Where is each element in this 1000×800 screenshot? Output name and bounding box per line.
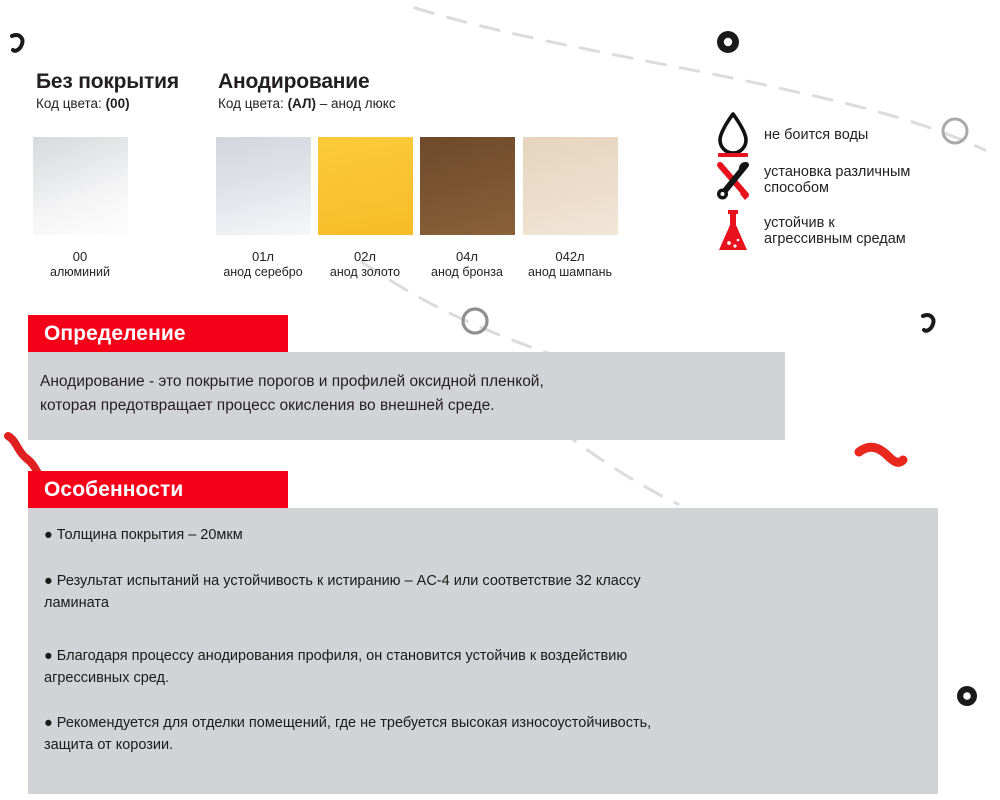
section-header-characteristics: Особенности (28, 471, 288, 508)
swatch-name-042l: анод шампань (505, 265, 635, 279)
dashed-path-lower (560, 430, 678, 504)
characteristic-bullet-2: ● Результат испытаний на устойчивость к … (44, 570, 934, 615)
column-title-anodizing: Анодирование (218, 70, 369, 94)
column-subtitle-uncoated-code: (00) (106, 96, 130, 111)
infographic-page: Без покрытия Код цвета: (00) Анодировани… (0, 0, 1000, 800)
characteristic-bullet-3: ● Благодаря процессу анодирования профил… (44, 645, 934, 690)
feature-water-label: не боится воды (764, 127, 868, 143)
red-squiggle-right (859, 447, 903, 462)
swatch-00 (33, 137, 128, 235)
column-title-uncoated: Без покрытия (36, 70, 179, 94)
comma-hook-top-left (12, 35, 22, 51)
swatch-042l (523, 137, 618, 235)
feature-install-label: установка различным способом (764, 164, 910, 196)
swatch-code-00: 00 (15, 249, 145, 264)
ring-outline-right (943, 119, 967, 143)
swatch-code-042l: 042л (505, 249, 635, 264)
water-drop-icon (712, 112, 754, 158)
characteristic-bullet-1: ● Толщина покрытия – 20мкм (44, 524, 934, 546)
swatch-02l (318, 137, 413, 235)
section-header-definition: Определение (28, 315, 288, 352)
donut-top (717, 31, 739, 53)
donut-bottom-right (957, 686, 977, 706)
swatch-01l (216, 137, 311, 235)
column-subtitle-anodizing-prefix: Код цвета: (218, 96, 288, 111)
swatch-name-00: алюминий (15, 265, 145, 279)
crossed-tools-icon (712, 158, 754, 202)
column-subtitle-anodizing-suffix: – анод люкс (316, 96, 396, 111)
column-subtitle-uncoated-prefix: Код цвета: (36, 96, 106, 111)
column-subtitle-anodizing: Код цвета: (АЛ) – анод люкс (218, 96, 396, 111)
comma-hook-right (923, 315, 933, 331)
definition-text: Анодирование - это покрытие порогов и пр… (40, 370, 780, 418)
column-subtitle-uncoated: Код цвета: (00) (36, 96, 130, 111)
flask-icon (712, 208, 754, 254)
characteristic-bullet-4: ● Рекомендуется для отделки помещений, г… (44, 712, 934, 757)
feature-install: установка различным способом (712, 158, 910, 202)
column-subtitle-anodizing-code: (АЛ) (288, 96, 316, 111)
dashed-path-top (415, 8, 985, 150)
ring-outline-center (463, 309, 487, 333)
feature-chemical: устойчив к агрессивным средам (712, 208, 906, 254)
feature-water: не боится воды (712, 112, 868, 158)
swatch-04l (420, 137, 515, 235)
feature-chemical-label: устойчив к агрессивным средам (764, 215, 906, 247)
